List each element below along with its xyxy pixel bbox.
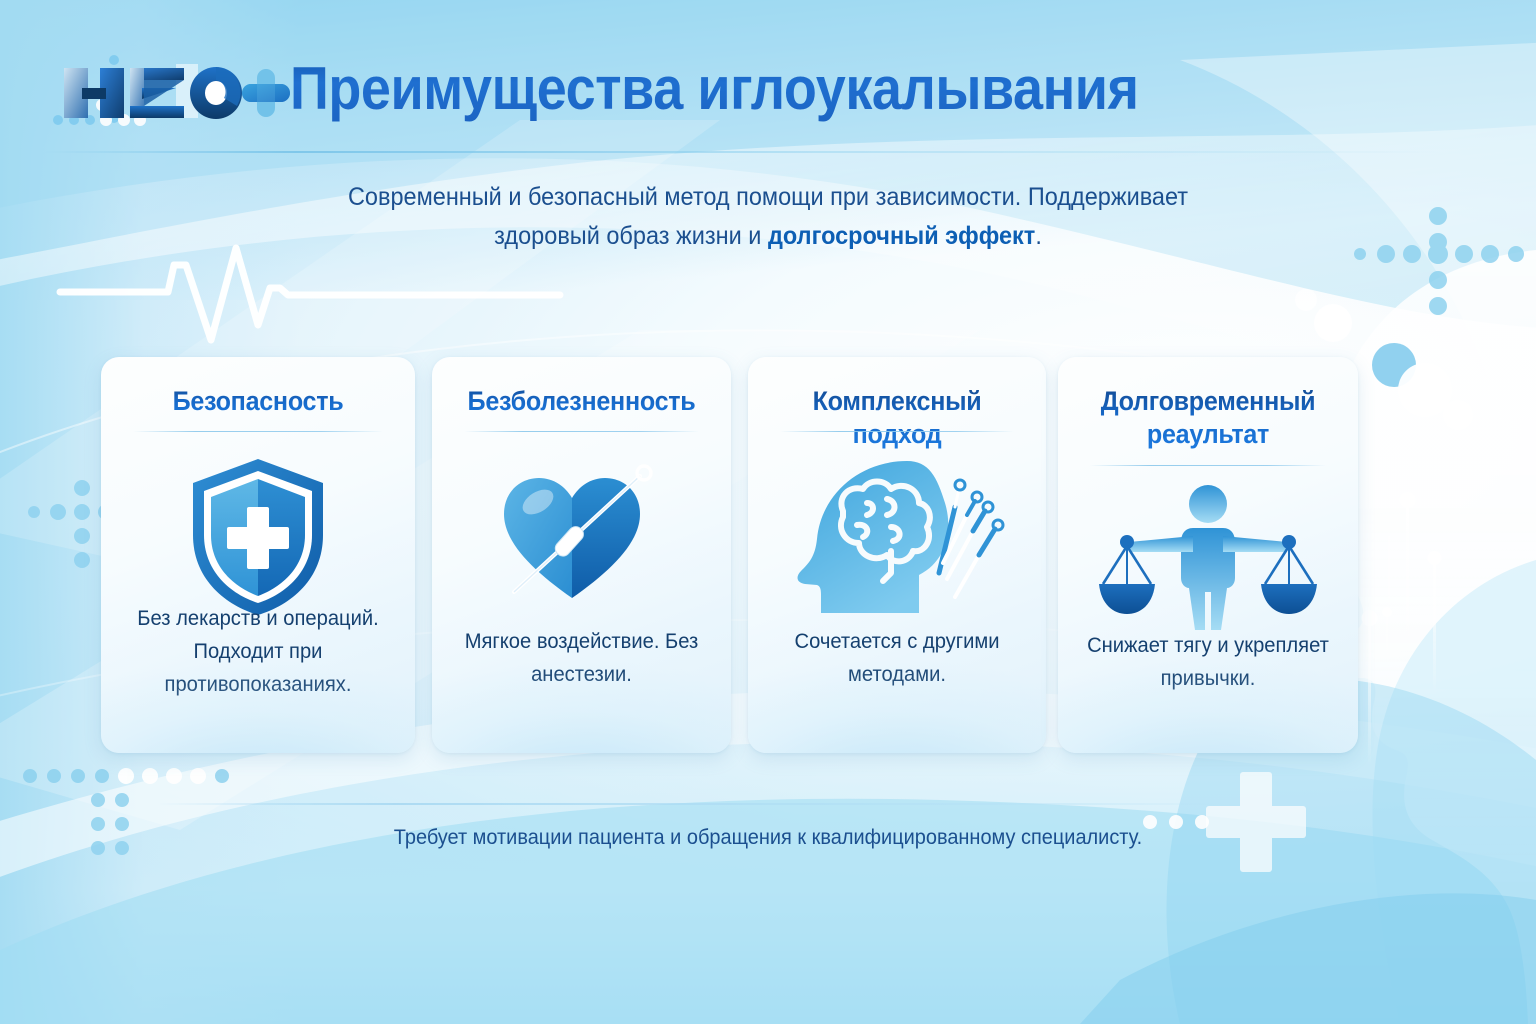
card-title: Долговременный реаультат xyxy=(1078,385,1338,451)
card-title: Комплексный подход xyxy=(768,385,1027,451)
neo-plus-logo xyxy=(44,50,294,130)
balance-scales-person-icon xyxy=(1093,480,1323,630)
subtitle-highlight: долгосрочный эффект xyxy=(768,222,1035,250)
page-title: Преимущества иглоукалывания xyxy=(290,52,1190,126)
heart-needle-icon xyxy=(492,462,672,612)
page-header: Преимущества иглоукалывания xyxy=(0,0,1536,152)
subtitle-line-1: Современный и безопасный метод помощи пр… xyxy=(348,183,1188,211)
benefit-card-complex[interactable]: Комплексный подход xyxy=(748,357,1046,753)
benefit-card-longterm[interactable]: Долговременный реаультат xyxy=(1058,357,1358,753)
card-icon-wrap xyxy=(432,447,731,627)
footer-divider xyxy=(155,803,1245,805)
head-brain-needles-icon xyxy=(787,455,1007,620)
card-icon-wrap xyxy=(748,447,1046,627)
card-divider xyxy=(464,431,699,432)
footer-note: Требует мотивации пациента и обращения к… xyxy=(38,823,1497,853)
benefit-cards: Безопасность xyxy=(0,357,1536,757)
subtitle: Современный и безопасный метод помощи пр… xyxy=(298,178,1238,256)
card-icon-wrap xyxy=(1058,465,1358,645)
card-divider xyxy=(780,431,1014,432)
card-text: Без лекарств и операций. Подходит при пр… xyxy=(115,602,401,701)
subtitle-line-2-suffix: . xyxy=(1035,222,1042,250)
card-divider xyxy=(133,431,383,432)
shield-cross-icon xyxy=(183,453,333,621)
card-text: Сочетается с другими методами. xyxy=(762,625,1033,691)
subtitle-line-2-prefix: здоровый образ жизни и xyxy=(494,222,768,250)
card-title: Безопасность xyxy=(121,385,394,418)
infographic-root: Преимущества иглоукалывания Современный … xyxy=(0,0,1536,1024)
header-divider xyxy=(44,151,1444,153)
benefit-card-painless[interactable]: Безболезненность xyxy=(432,357,731,753)
card-text: Снижает тягу и укрепляет привычки. xyxy=(1072,629,1345,695)
needles-group xyxy=(939,480,1003,597)
card-icon-wrap xyxy=(101,447,415,627)
card-text: Мягкое воздействие. Без анестезии. xyxy=(446,625,718,691)
benefit-card-safety[interactable]: Безопасность xyxy=(101,357,415,753)
card-title: Безболезненность xyxy=(452,385,711,418)
